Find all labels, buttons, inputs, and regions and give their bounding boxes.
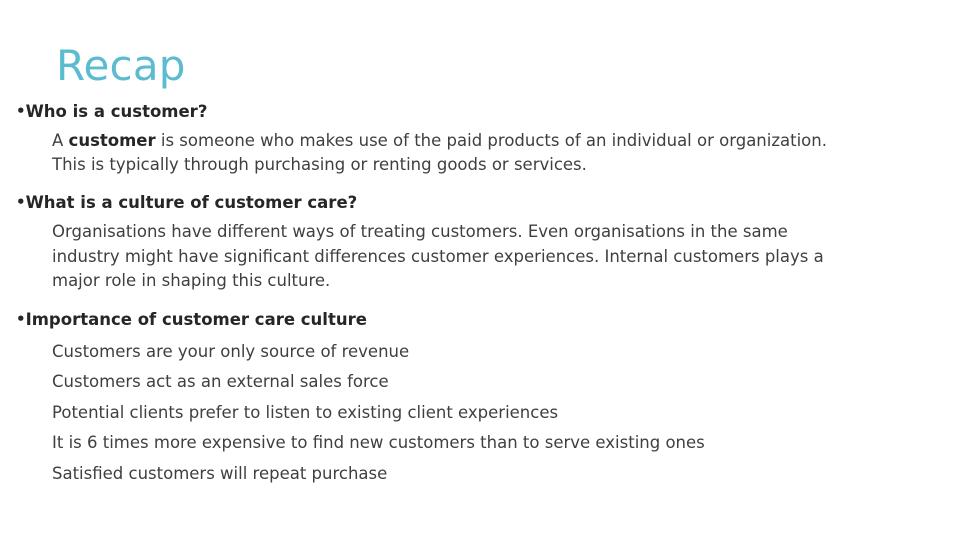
list-item: Potential clients prefer to listen to ex… — [0, 398, 960, 428]
section-importance-of-customer-care: •Importance of customer care culture Cus… — [0, 307, 960, 489]
bullet-dot-icon: • — [16, 102, 26, 120]
section-culture-of-customer-care: •What is a culture of customer care? Org… — [0, 190, 960, 293]
bullet-heading-2: •What is a culture of customer care? — [0, 190, 960, 215]
spacer — [0, 177, 960, 190]
spacer — [0, 293, 960, 307]
paragraph-prefix: A — [52, 131, 69, 150]
bullet-heading-1-label: Who is a customer? — [26, 102, 208, 121]
paragraph-customer-definition: A customer is someone who makes use of t… — [0, 129, 852, 177]
slide: Recap •Who is a customer? A customer is … — [0, 0, 960, 540]
bullet-dot-icon: • — [16, 193, 26, 211]
bullet-heading-3-label: Importance of customer care culture — [26, 310, 367, 329]
page-title: Recap — [56, 40, 186, 92]
bullet-heading-2-label: What is a culture of customer care? — [26, 193, 358, 212]
list-item: Satisfied customers will repeat purchase — [0, 459, 960, 489]
bullet-dot-icon: • — [16, 310, 26, 328]
paragraph-emphasis-customer: customer — [69, 131, 156, 150]
paragraph-culture-definition: Organisations have different ways of tre… — [0, 220, 852, 293]
bullet-heading-3: •Importance of customer care culture — [0, 307, 960, 332]
list-item: Customers act as an external sales force — [0, 367, 960, 397]
bullet-heading-1: •Who is a customer? — [0, 99, 960, 124]
list-item: It is 6 times more expensive to find new… — [0, 428, 960, 458]
paragraph-rest: is someone who makes use of the paid pro… — [52, 131, 827, 174]
slide-body: •Who is a customer? A customer is someon… — [0, 99, 960, 489]
list-item: Customers are your only source of revenu… — [0, 337, 960, 367]
section-who-is-a-customer: •Who is a customer? A customer is someon… — [0, 99, 960, 177]
